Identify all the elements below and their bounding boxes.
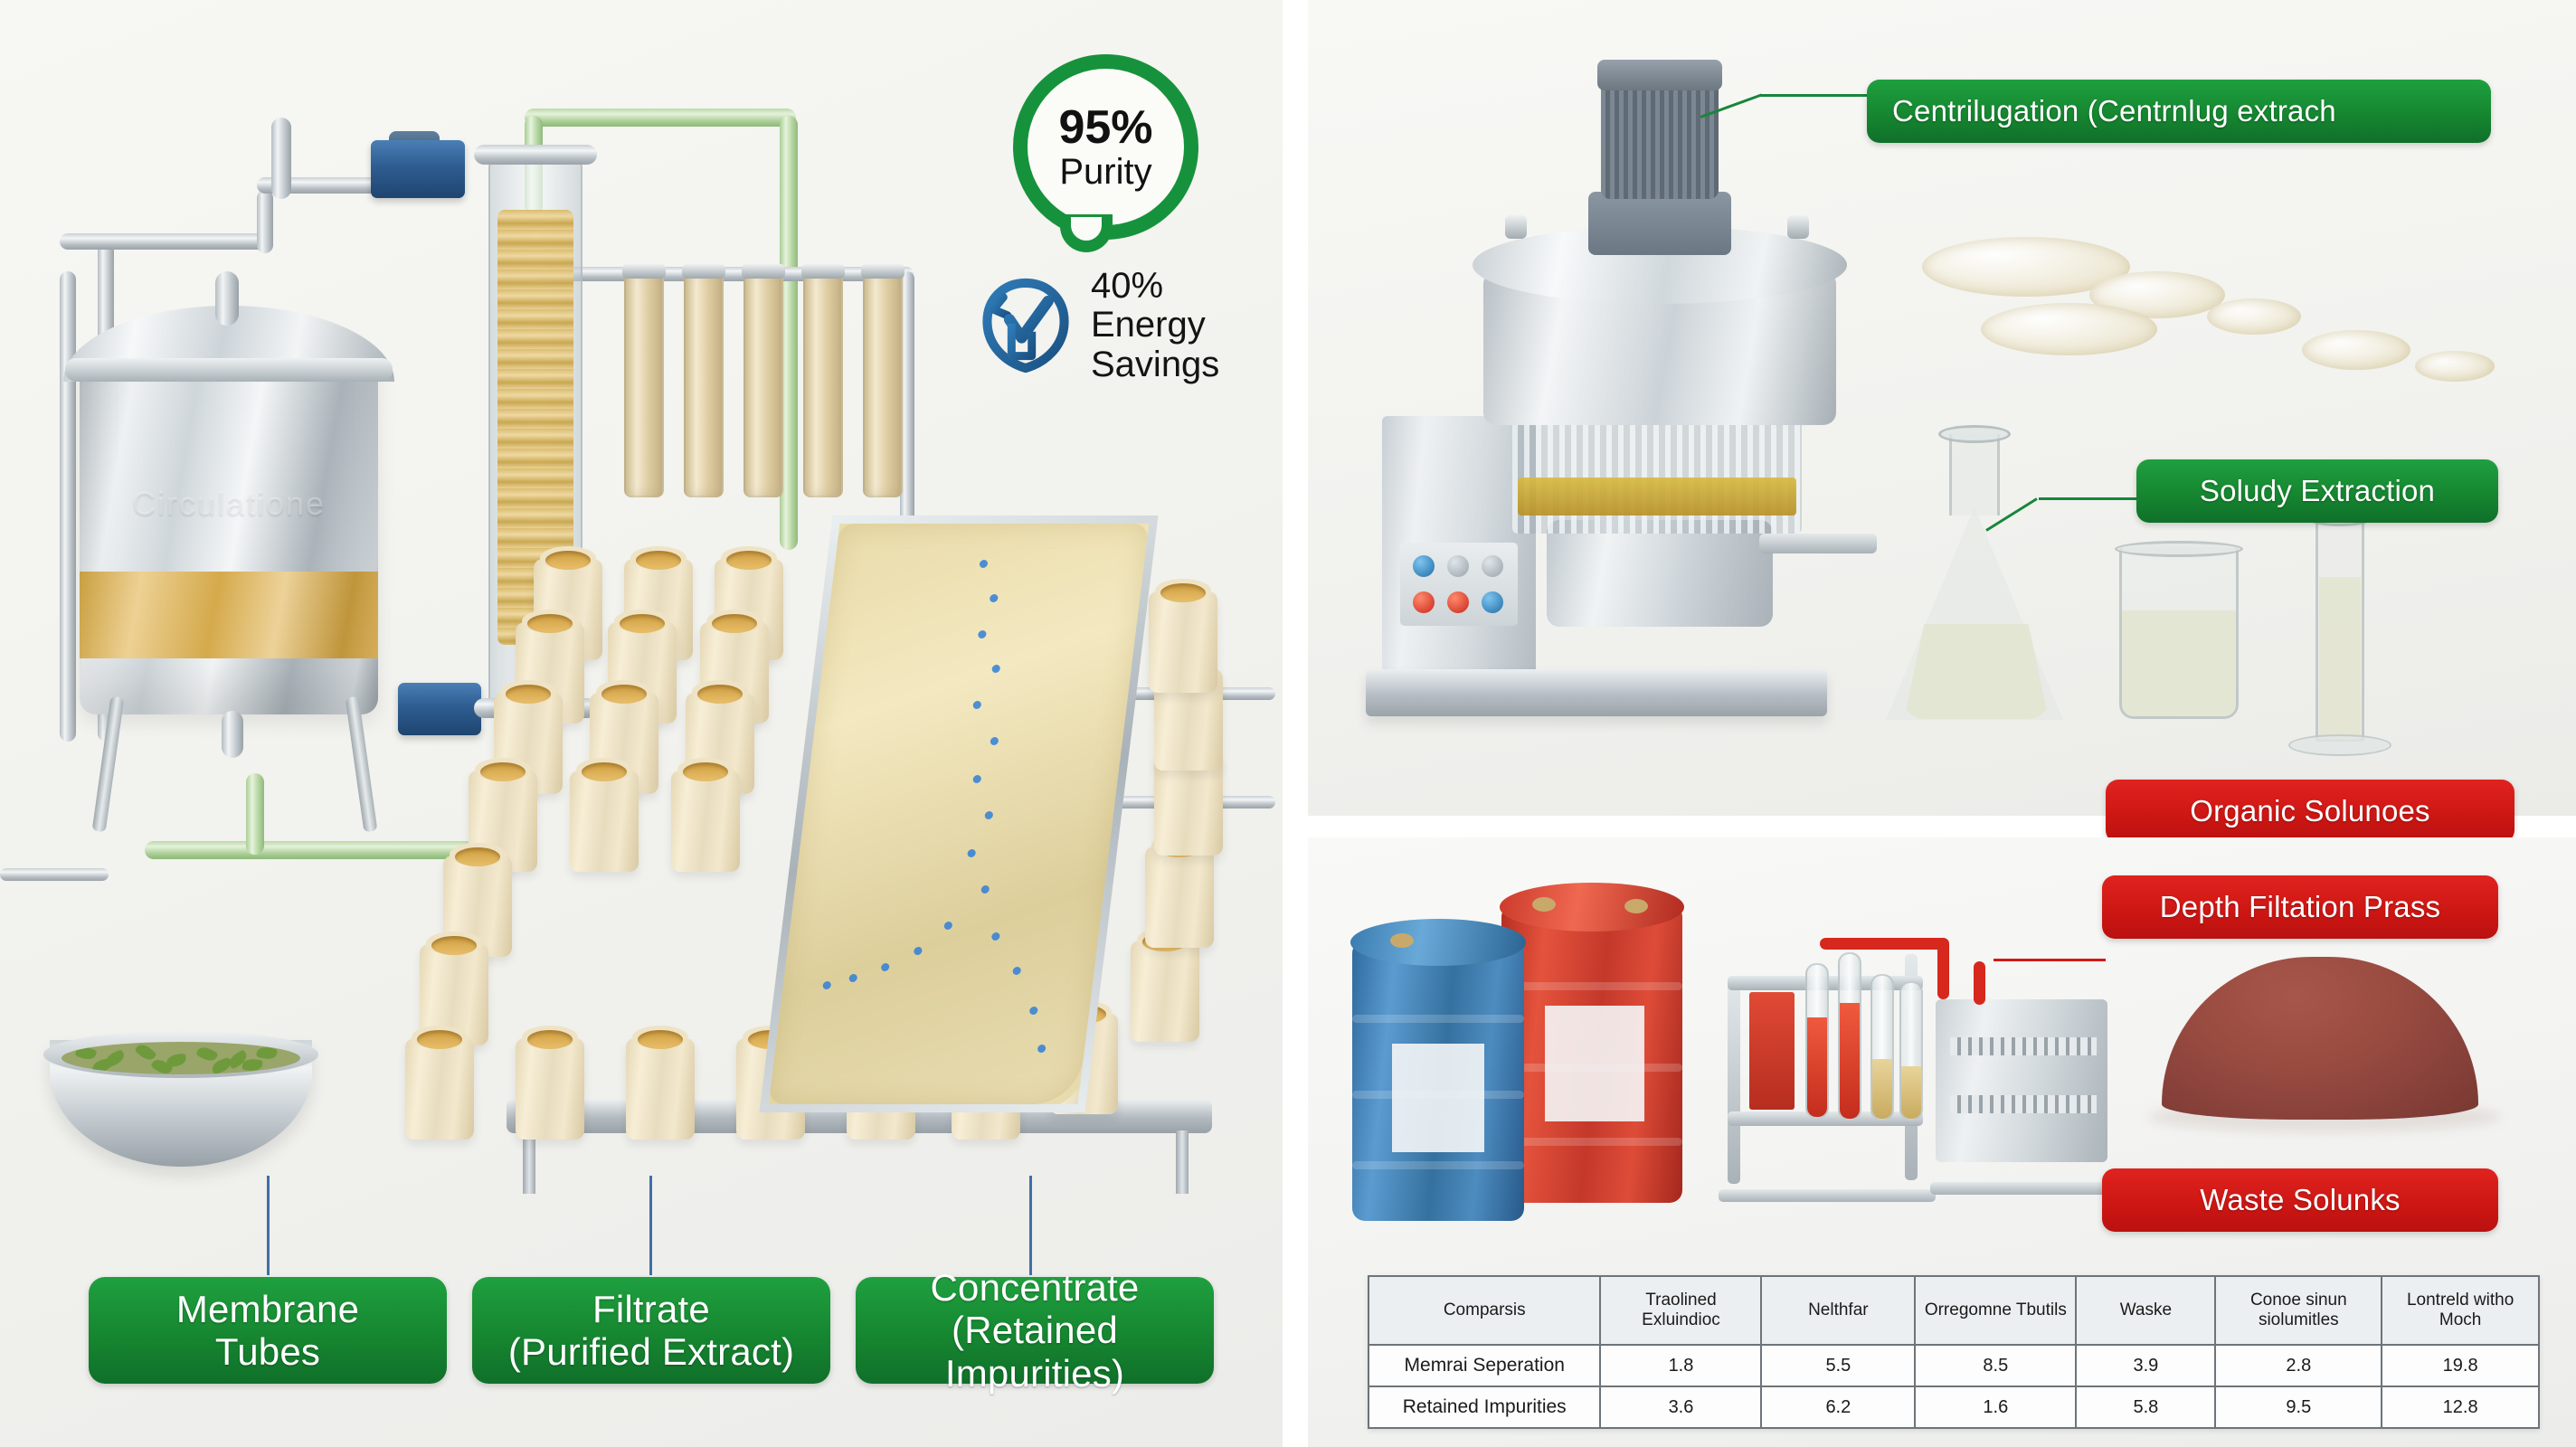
cartridge-cap-4 <box>801 264 845 279</box>
drum-label-blue <box>1392 1044 1484 1152</box>
recycle-shield-check-icon <box>975 275 1076 376</box>
infographic-board: Circulatione <box>0 0 2576 1447</box>
cartridge-cap-2 <box>682 264 725 279</box>
membrane-tube <box>570 771 639 872</box>
leader-centrifugation <box>1760 94 1869 97</box>
press-plate-stack-2 <box>1950 1095 2097 1113</box>
drum-red-top <box>1500 883 1684 932</box>
membrane-tube <box>516 1038 584 1140</box>
energy-value: 40% <box>1091 267 1219 306</box>
extract-blob-5 <box>2302 330 2410 370</box>
cell-1-3: 5.8 <box>2076 1386 2215 1428</box>
row-label-1: Retained Impurities <box>1368 1386 1600 1428</box>
cell-0-5: 19.8 <box>2382 1345 2539 1386</box>
centrifuge-base-plate <box>1366 669 1827 716</box>
process-tank: Circulatione <box>80 353 378 714</box>
left-panel-membrane-separation: Circulatione <box>0 0 1283 1447</box>
col-head-4: Waske <box>2076 1276 2215 1345</box>
cartridge-cap-1 <box>622 264 666 279</box>
centrifuge-liquid <box>1518 478 1796 515</box>
pipe-vertical-left <box>60 271 76 742</box>
extract-blob-3 <box>1981 303 2157 355</box>
table-header-row: Comparsis Traolined Exluindioc Nelthfar … <box>1368 1276 2539 1345</box>
press-tube-4 <box>1899 981 1923 1121</box>
membrane-tube <box>1131 941 1199 1042</box>
depth-filtration-press <box>1728 918 2117 1225</box>
press-module-body <box>1936 999 2107 1162</box>
cell-1-5: 12.8 <box>2382 1386 2539 1428</box>
cell-0-2: 8.5 <box>1915 1345 2076 1386</box>
cartridge-filter-5 <box>863 271 903 497</box>
energy-savings-text: 40% Energy Savings <box>1091 267 1219 384</box>
comparison-table: Comparsis Traolined Exluindioc Nelthfar … <box>1368 1275 2540 1429</box>
extract-blob-4 <box>2207 298 2301 335</box>
pipe-top-left-run <box>60 233 268 250</box>
label-filtrate[interactable]: Filtrate (Purified Extract) <box>472 1277 830 1384</box>
centrifuge-control-panel[interactable] <box>1400 543 1518 626</box>
drum-bung-3[interactable] <box>1390 933 1414 948</box>
drum-blue-top <box>1350 919 1526 966</box>
extract-blob-6 <box>2415 351 2495 382</box>
drum-rib <box>1501 1138 1682 1146</box>
press-post-left <box>1728 976 1740 1184</box>
cell-1-4: 9.5 <box>2215 1386 2382 1428</box>
cylinder-liquid <box>2319 577 2361 740</box>
cylinder-foot <box>2288 734 2391 756</box>
membrane-tube <box>626 1038 695 1140</box>
control-button-red-1[interactable] <box>1413 591 1435 613</box>
panel-divider-vertical <box>1283 0 1308 1447</box>
pipe-far-left-lower <box>0 868 109 881</box>
leader-soludy <box>2039 497 2138 500</box>
cell-1-1: 6.2 <box>1761 1386 1915 1428</box>
red-hose-top <box>1820 938 1948 950</box>
purity-label: Purity <box>1059 153 1151 191</box>
cell-0-3: 3.9 <box>2076 1345 2215 1386</box>
leader-concentrate <box>1029 1176 1032 1275</box>
membrane-tube <box>405 1038 474 1140</box>
cartridge-filter-2 <box>684 271 724 497</box>
label-concentrate[interactable]: Concentrate (Retained Impurities) <box>856 1277 1214 1384</box>
valve-top[interactable] <box>371 140 465 198</box>
control-button-grey[interactable] <box>1447 555 1469 577</box>
tank-leg-left <box>92 696 125 833</box>
centrifuge-motor-mount <box>1588 192 1731 255</box>
press-base-beam <box>1719 1189 1936 1202</box>
label-centrifugation[interactable]: Centrilugation (Centrnlug extrach <box>1867 80 2491 143</box>
press-tube-3 <box>1870 974 1894 1121</box>
energy-line3: Savings <box>1091 345 1219 384</box>
membrane-tube <box>1145 846 1214 948</box>
cartridge-filter-3 <box>743 271 783 497</box>
red-hose-down <box>1937 938 1949 999</box>
pipe-riser-a <box>257 190 273 253</box>
drum-bung-2[interactable] <box>1624 899 1648 913</box>
cell-0-0: 1.8 <box>1600 1345 1761 1386</box>
drum-rib <box>1501 982 1682 990</box>
col-head-0: Comparsis <box>1368 1276 1600 1345</box>
table-row: Memrai Seperation 1.8 5.5 8.5 3.9 2.8 19… <box>1368 1345 2539 1386</box>
tank-drain-nozzle <box>222 711 243 758</box>
drum-label-red <box>1545 1006 1644 1121</box>
col-head-2: Nelthfar <box>1761 1276 1915 1345</box>
purity-badge: 95% Purity <box>1013 54 1198 240</box>
control-button-blue-1[interactable] <box>1413 555 1435 577</box>
column-top-flange <box>474 145 597 165</box>
col-head-6: Lontreld witho Moch <box>2382 1276 2539 1345</box>
leader-membrane-tubes <box>267 1176 270 1275</box>
flask-liquid <box>1904 624 2049 719</box>
tank-liquid-band <box>80 572 378 658</box>
col-head-1: Traolined Exluindioc <box>1600 1276 1761 1345</box>
tank-top-nozzle <box>215 271 239 326</box>
label-waste-solunks[interactable]: Waste Solunks <box>2102 1168 2498 1232</box>
valve-mid[interactable] <box>398 683 481 735</box>
cartridge-cap-3 <box>742 264 785 279</box>
cartridge-filter-4 <box>803 271 843 497</box>
cell-1-2: 1.6 <box>1915 1386 2076 1428</box>
tank-rim <box>65 358 393 382</box>
cartridge-filter-1 <box>624 271 664 497</box>
energy-savings-badge: 40% Energy Savings <box>975 258 1283 393</box>
cell-0-4: 2.8 <box>2215 1345 2382 1386</box>
centrifuge-motor-cap <box>1597 60 1722 90</box>
press-tube-1 <box>1805 963 1829 1119</box>
beaker-liquid <box>2122 610 2236 716</box>
drum-bung[interactable] <box>1532 897 1556 912</box>
control-button-red-2[interactable] <box>1447 591 1469 613</box>
press-plate-stack-1 <box>1950 1037 2097 1055</box>
energy-line2: Energy <box>1091 306 1219 345</box>
press-tube-2 <box>1838 952 1861 1121</box>
red-hose-down-2 <box>1974 961 1985 1005</box>
lid-clamp-right[interactable] <box>1787 215 1809 239</box>
cell-1-0: 3.6 <box>1600 1386 1761 1428</box>
control-button-grey-2[interactable] <box>1482 555 1503 577</box>
cartridge-cap-5 <box>861 264 904 279</box>
lid-clamp-left[interactable] <box>1505 215 1527 239</box>
label-depth-filtation-prass[interactable]: Depth Filtation Prass <box>2102 875 2498 939</box>
green-pipe-top <box>525 109 796 127</box>
drum-rib <box>1352 1015 1524 1023</box>
row-label-0: Memrai Seperation <box>1368 1345 1600 1386</box>
centrifuge-clamp-lever[interactable] <box>1759 534 1877 553</box>
pipe-riser-b <box>271 118 291 199</box>
centrifuge-lower-drum <box>1547 520 1773 627</box>
press-filter-plate <box>1749 992 1795 1110</box>
col-head-3: Orregomne Tbutils <box>1915 1276 2076 1345</box>
centrifuge-motor <box>1601 81 1719 199</box>
col-head-5: Conoe sinun siolumitles <box>2215 1276 2382 1345</box>
drum-rib <box>1352 1161 1524 1169</box>
table-row: Retained Impurities 3.6 6.2 1.6 5.8 9.5 … <box>1368 1386 2539 1428</box>
label-organic-solunoes[interactable]: Organic Solunoes <box>2106 780 2514 843</box>
flask-lip <box>1938 425 2011 443</box>
label-soludy-extraction[interactable]: Soludy Extraction <box>2136 459 2498 523</box>
membrane-tube <box>1149 591 1217 693</box>
tank-leg-right <box>346 696 378 833</box>
green-pipe-drain <box>246 773 264 855</box>
purity-value: 95% <box>1058 104 1152 151</box>
flask-neck <box>1949 434 2000 515</box>
tank-emboss-text: Circulatione <box>80 485 378 523</box>
membrane-tube <box>671 771 740 872</box>
label-membrane-tubes[interactable]: Membrane Tubes <box>89 1277 447 1384</box>
beaker-rim <box>2115 541 2243 557</box>
leader-filtrate <box>649 1176 652 1275</box>
control-button-blue-2[interactable] <box>1482 591 1503 613</box>
bowl-contents <box>62 1042 300 1074</box>
press-module-base <box>1930 1182 2111 1195</box>
cell-0-1: 5.5 <box>1761 1345 1915 1386</box>
waste-drum-red <box>1501 904 1682 1203</box>
leader-depth-filtation <box>1994 959 2106 961</box>
solvent-drum-blue <box>1352 941 1524 1221</box>
